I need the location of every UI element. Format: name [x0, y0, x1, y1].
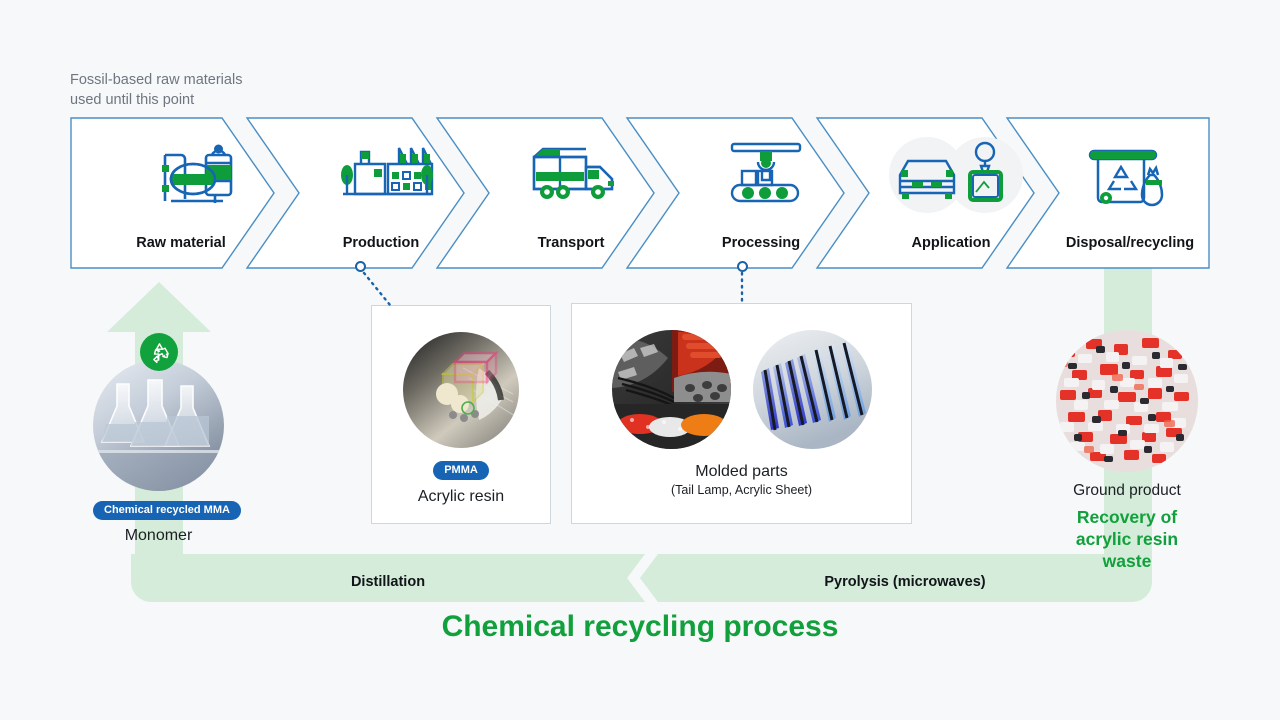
ground-product-highlight: Recovery of acrylic resin waste [1056, 506, 1198, 572]
card-acrylic-resin[interactable]: PMMA Acrylic resin [371, 305, 551, 524]
node-monomer: Chemical recycled MMA Monomer [93, 360, 224, 545]
chevron-label-raw-material[interactable]: Raw material [101, 235, 261, 251]
erlenmeyer-flasks-photo [93, 360, 224, 491]
connector-node-production [355, 261, 366, 272]
pmma-badge[interactable]: PMMA [433, 461, 489, 480]
chevron-label-processing[interactable]: Processing [671, 235, 851, 251]
recycle-bin-icon [1051, 139, 1209, 211]
band-label-pyrolysis: Pyrolysis (microwaves) [658, 574, 1152, 590]
card-molded-parts[interactable]: Molded parts (Tail Lamp, Acrylic Sheet) [571, 303, 912, 524]
chevron-label-transport[interactable]: Transport [481, 235, 661, 251]
band-label-distillation: Distillation [131, 574, 645, 590]
acrylic-sheet-photo [753, 330, 872, 449]
molded-parts-subcaption: (Tail Lamp, Acrylic Sheet) [671, 483, 812, 497]
node-ground-product: Ground product Recovery of acrylic resin… [1056, 330, 1198, 572]
truck-icon [481, 139, 671, 211]
chemical-recycled-mma-badge[interactable]: Chemical recycled MMA [93, 501, 241, 520]
chevron-label-disposal-recycling[interactable]: Disposal/recycling [1051, 235, 1209, 251]
resin-badge-row: PMMA [433, 460, 489, 480]
diagram-canvas: Fossil-based raw materials used until th… [0, 0, 1280, 720]
recycle-icon [140, 333, 178, 371]
chevron-label-application[interactable]: Application [861, 235, 1041, 251]
refinery-tank-icon [101, 139, 291, 211]
connector-node-processing [737, 261, 748, 272]
ground-product-title: Ground product [1056, 482, 1198, 500]
footer-title: Chemical recycling process [0, 610, 1280, 644]
chevron-label-production[interactable]: Production [291, 235, 471, 251]
factory-icon [291, 139, 481, 211]
pmma-cubes-photo [403, 332, 519, 448]
ground-acrylic-granulate-photo [1056, 330, 1198, 472]
robot-conveyor-icon [671, 139, 861, 211]
process-chevron-bar: Raw material Production Transport Proces… [70, 117, 1210, 269]
monomer-badge-row: Chemical recycled MMA [93, 500, 224, 520]
acrylic-resin-caption: Acrylic resin [418, 488, 504, 506]
molded-parts-caption: Molded parts [695, 463, 788, 481]
car-and-tag-icon [861, 135, 1051, 215]
tail-lamp-photo [612, 330, 731, 449]
monomer-title: Monomer [93, 527, 224, 545]
